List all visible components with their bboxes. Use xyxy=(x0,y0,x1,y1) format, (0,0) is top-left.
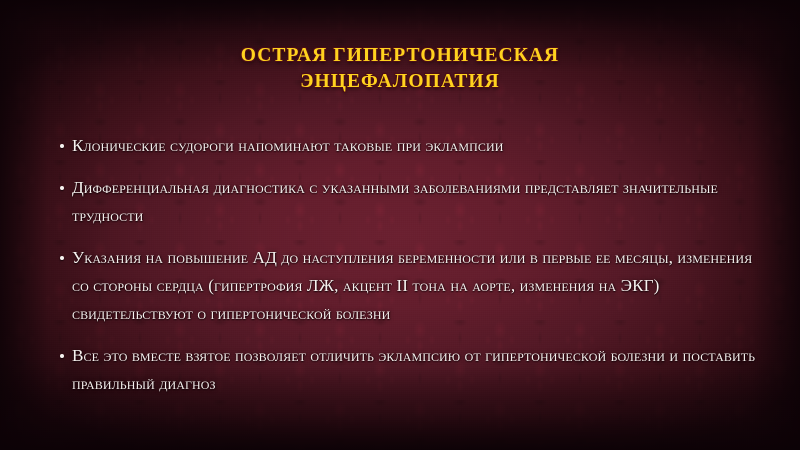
bullet-item-1: Клонические судороги напоминают таковые … xyxy=(58,132,764,160)
bullet-item-4: Все это вместе взятое позволяет отличить… xyxy=(58,342,764,398)
presentation-slide: ОСТРАЯ ГИПЕРТОНИЧЕСКАЯ ЭНЦЕФАЛОПАТИЯ Кло… xyxy=(0,0,800,450)
slide-title: ОСТРАЯ ГИПЕРТОНИЧЕСКАЯ ЭНЦЕФАЛОПАТИЯ xyxy=(0,43,800,95)
slide-title-line-1: ОСТРАЯ ГИПЕРТОНИЧЕСКАЯ xyxy=(0,43,800,69)
slide-bullet-list: Клонические судороги напоминают таковые … xyxy=(58,132,764,398)
bullet-item-2: Дифференциальная диагностика с указанным… xyxy=(58,174,764,230)
slide-content: ОСТРАЯ ГИПЕРТОНИЧЕСКАЯ ЭНЦЕФАЛОПАТИЯ Кло… xyxy=(0,0,800,450)
bullet-item-3: Указания на повышение АД до наступления … xyxy=(58,244,764,328)
slide-title-line-2: ЭНЦЕФАЛОПАТИЯ xyxy=(0,69,800,95)
